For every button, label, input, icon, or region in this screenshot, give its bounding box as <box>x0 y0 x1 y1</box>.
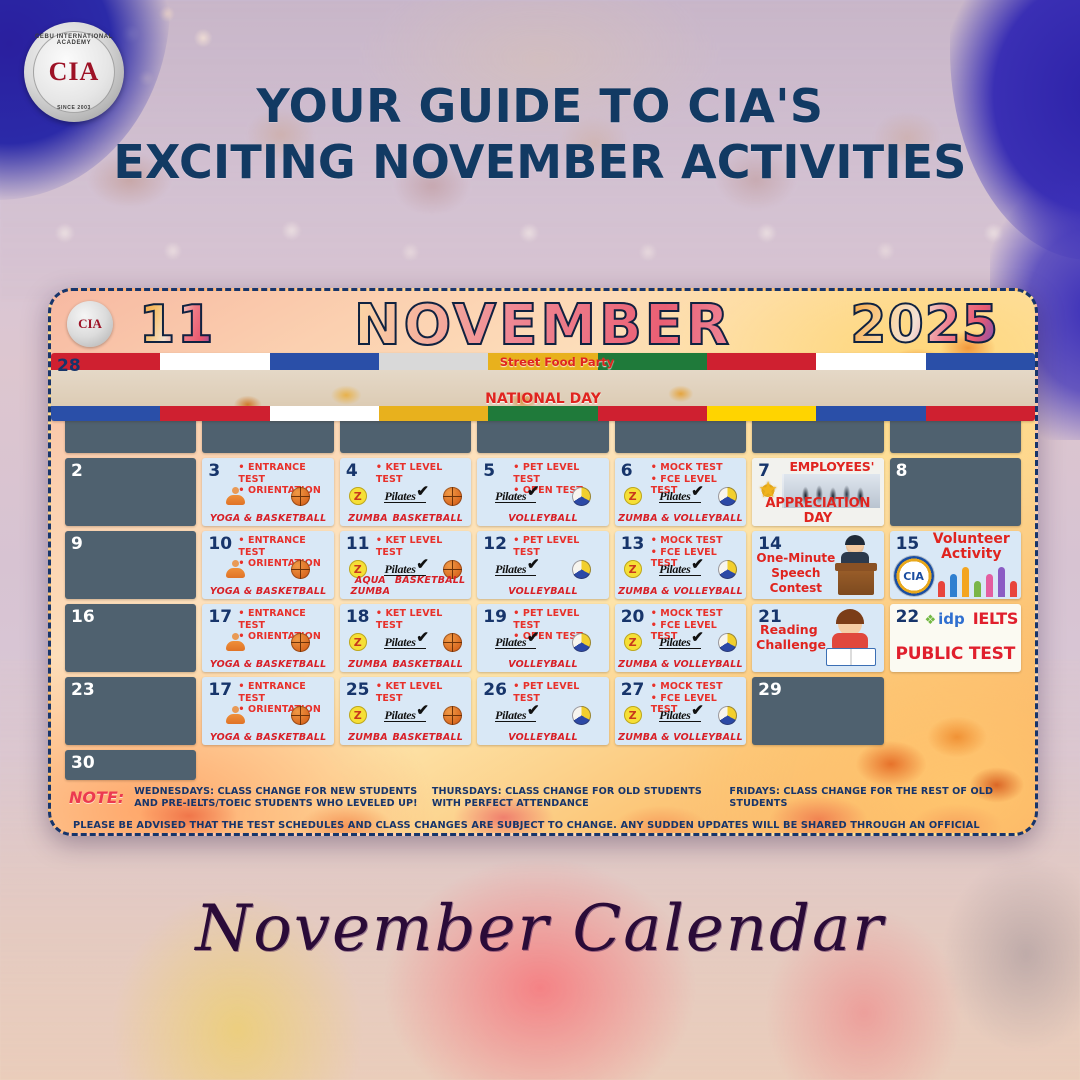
calendar-day-cell-empty[interactable]: 8 <box>890 458 1021 526</box>
day-test-item: ENTRANCE TEST <box>238 462 330 485</box>
activity-label: YOGA & BASKETBALL <box>202 586 333 597</box>
day-number: 22 <box>896 607 920 627</box>
calendar-header: CIA 11 NOVEMBER 2025 <box>51 291 1035 353</box>
activity-label: VOLLEYBALL <box>477 513 608 524</box>
activity-label: AQUA ZUMBA <box>346 575 395 597</box>
activity-label: VOLLEYBALL <box>477 586 608 597</box>
calendar-cell-blank <box>202 750 333 780</box>
day-test-item: PET LEVEL TEST <box>513 681 605 704</box>
activity-label: ZUMBA & VOLLEYBALL <box>615 659 746 670</box>
day-test-item: ENTRANCE TEST <box>238 681 330 704</box>
day-number: 9 <box>71 534 83 554</box>
calendar-day-cell-national-day[interactable]: 28Street Food PartyNATIONAL DAY <box>51 353 1035 421</box>
day-test-list: KET LEVEL TEST <box>376 462 468 485</box>
calendar-day-cell-activity[interactable]: 13MOCK TESTFCE LEVEL TESTPilatesZUMBA & … <box>615 531 746 599</box>
activity-icon-row: Pilates <box>340 484 471 508</box>
day-number: 26 <box>483 680 507 700</box>
pilates-icon: Pilates <box>659 490 700 503</box>
day-number: 10 <box>208 534 232 554</box>
day-test-list: PET LEVEL TEST <box>513 681 605 704</box>
note-column-thursdays: THURSDAYS: CLASS CHANGE FOR OLD STUDENTS… <box>432 786 720 810</box>
zumba-icon <box>624 560 642 578</box>
volleyball-icon <box>718 487 737 506</box>
calendar-day-cell-empty[interactable]: 23 <box>65 677 196 745</box>
day-test-list: KET LEVEL TEST <box>376 681 468 704</box>
calendar-day-cell-activity[interactable]: 6MOCK TESTFCE LEVEL TESTPilatesZUMBA & V… <box>615 458 746 526</box>
day-number: 11 <box>346 534 370 554</box>
day-number: 23 <box>71 680 95 700</box>
idp-logo: idp <box>924 610 964 628</box>
activity-label: ZUMBA & VOLLEYBALL <box>615 586 746 597</box>
note-column-fridays: FRIDAYS: CLASS CHANGE FOR THE REST OF OL… <box>729 786 1017 810</box>
day-number: 18 <box>346 607 370 627</box>
activity-icon-row: Pilates <box>340 630 471 654</box>
day-number: 19 <box>483 607 507 627</box>
activity-icon-row: Pilates <box>477 484 608 508</box>
calendar-week-row: 2317ENTRANCE TESTORIENTATIONYOGA & BASKE… <box>65 677 1021 745</box>
day-test-item: ENTRANCE TEST <box>238 535 330 558</box>
calendar-day-cell-speech-contest[interactable]: 14One-Minute Speech Contest <box>752 531 883 599</box>
day-test-item: ENTRANCE TEST <box>238 608 330 631</box>
day-number: 12 <box>483 534 507 554</box>
speaker-podium-icon <box>836 537 878 595</box>
zumba-icon <box>349 633 367 651</box>
activity-label: BASKETBALL <box>395 575 465 597</box>
calendar-day-cell-empty[interactable]: 16 <box>65 604 196 672</box>
volleyball-icon <box>572 487 591 506</box>
calendar-day-cell-volunteer-activity[interactable]: 15Volunteer ActivityCIA <box>890 531 1021 599</box>
volunteer-seal-text: CIA <box>894 556 934 596</box>
activity-icon-row: Pilates <box>615 630 746 654</box>
day-test-item: MOCK TEST <box>651 681 743 693</box>
day-test-item: PET LEVEL TEST <box>513 608 605 631</box>
pilates-icon: Pilates <box>495 563 536 576</box>
pilates-icon: Pilates <box>495 709 536 722</box>
activity-label-row: ZUMBABASKETBALL <box>340 732 471 743</box>
national-day-title: NATIONAL DAY <box>51 391 1035 407</box>
day-test-item: KET LEVEL TEST <box>376 462 468 485</box>
zumba-icon <box>624 706 642 724</box>
day-number: 4 <box>346 461 358 481</box>
page-title-line1: YOUR GUIDE TO CIA'S <box>0 78 1080 134</box>
activity-icon-row <box>202 484 333 508</box>
activity-label: YOGA & BASKETBALL <box>202 513 333 524</box>
volleyball-icon <box>572 633 591 652</box>
logo-initials: CIA <box>24 22 124 122</box>
day-test-item: KET LEVEL TEST <box>376 608 468 631</box>
day-number: 29 <box>758 680 782 700</box>
activity-icon-row: Pilates <box>477 703 608 727</box>
volleyball-icon <box>572 706 591 725</box>
day-test-item: PET LEVEL TEST <box>513 462 605 485</box>
calendar-card: CIA 11 NOVEMBER 2025 Sun Mon Tue Wed Thu… <box>48 288 1038 836</box>
cia-logo-badge: CEBU INTERNATIONAL ACADEMY CIA SINCE 200… <box>24 22 124 122</box>
day-number: 17 <box>208 607 232 627</box>
calendar-day-cell-empty[interactable]: 2 <box>65 458 196 526</box>
zumba-icon <box>624 487 642 505</box>
ielts-logo: IELTS <box>973 609 1018 628</box>
street-food-party-title: Street Food Party <box>81 355 1033 369</box>
note-label: NOTE: <box>69 786 124 807</box>
calendar-day-cell-activity[interactable]: 11KET LEVEL TESTPilatesAQUA ZUMBABASKETB… <box>340 531 471 599</box>
calendar-day-cell-activity[interactable]: 10ENTRANCE TESTORIENTATIONYOGA & BASKETB… <box>202 531 333 599</box>
note-column-wednesdays: WEDNESDAYS: CLASS CHANGE FOR NEW STUDENT… <box>134 786 422 810</box>
day-number: 6 <box>621 461 633 481</box>
calendar-day-cell-activity[interactable]: 12PET LEVEL TESTPilatesVOLLEYBALL <box>477 531 608 599</box>
ielts-logo-row: idpIELTS <box>926 609 1017 628</box>
note-top-row: NOTE: WEDNESDAYS: CLASS CHANGE FOR NEW S… <box>69 786 1017 810</box>
volleyball-icon <box>718 560 737 579</box>
calendar-day-cell-activity[interactable]: 19PET LEVEL TESTOPEN TESTPilatesVOLLEYBA… <box>477 604 608 672</box>
calendar-day-cell-activity[interactable]: 20MOCK TESTFCE LEVEL TESTPilatesZUMBA & … <box>615 604 746 672</box>
activity-icon-row: Pilates <box>477 557 608 581</box>
calendar-cell-blank <box>615 750 746 780</box>
day-test-item: KET LEVEL TEST <box>376 535 468 558</box>
day-number: 2 <box>71 461 83 481</box>
calendar-day-cell-activity[interactable]: 3ENTRANCE TESTORIENTATIONYOGA & BASKETBA… <box>202 458 333 526</box>
activity-icon-row <box>202 630 333 654</box>
activity-icon-row <box>202 703 333 727</box>
basketball-icon <box>291 560 310 579</box>
activity-label: ZUMBA & VOLLEYBALL <box>615 513 746 524</box>
day-test-list: KET LEVEL TEST <box>376 535 468 558</box>
activity-label: YOGA & BASKETBALL <box>202 659 333 670</box>
calendar-week-row: 30 <box>65 750 1021 780</box>
calendar-day-cell-activity[interactable]: 18KET LEVEL TESTPilatesZUMBABASKETBALL <box>340 604 471 672</box>
calendar-day-cell-activity[interactable]: 4KET LEVEL TESTPilatesZUMBABASKETBALL <box>340 458 471 526</box>
activity-label: ZUMBA <box>348 659 388 670</box>
activity-label: VOLLEYBALL <box>477 732 608 743</box>
zumba-icon <box>624 633 642 651</box>
zumba-icon <box>349 706 367 724</box>
calendar-day-cell-activity[interactable]: 25KET LEVEL TESTPilatesZUMBABASKETBALL <box>340 677 471 745</box>
day-number: 3 <box>208 461 220 481</box>
page-title: YOUR GUIDE TO CIA'S EXCITING NOVEMBER AC… <box>0 78 1080 190</box>
activity-icon-row: Pilates <box>615 703 746 727</box>
pilates-icon: Pilates <box>495 490 536 503</box>
note-section: NOTE: WEDNESDAYS: CLASS CHANGE FOR NEW S… <box>65 780 1021 836</box>
pilates-icon: Pilates <box>659 636 700 649</box>
calendar-day-cell-ielts-public-test[interactable]: 22idpIELTSPUBLIC TEST <box>890 604 1021 672</box>
pilates-icon: Pilates <box>659 563 700 576</box>
day-test-item: PET LEVEL TEST <box>513 535 605 558</box>
calendar-cell-blank <box>752 750 883 780</box>
calendar-day-cell-reading-challenge[interactable]: 21Reading Challenge <box>752 604 883 672</box>
activity-label-row: ZUMBABASKETBALL <box>340 659 471 670</box>
cia-volunteer-seal-icon: CIA <box>894 556 934 596</box>
calendar-week-row: 23ENTRANCE TESTORIENTATIONYOGA & BASKETB… <box>65 458 1021 526</box>
volleyball-icon <box>718 633 737 652</box>
basketball-icon <box>443 487 462 506</box>
calendar-cell-blank <box>340 750 471 780</box>
calendar-day-cell-activity[interactable]: 27MOCK TESTFCE LEVEL TESTPilatesZUMBA & … <box>615 677 746 745</box>
pilates-icon: Pilates <box>659 709 700 722</box>
calendar-day-cell-empty[interactable]: 30 <box>65 750 196 780</box>
calendar-weeks: 123ENTRANCE TESTORIENTATIONYOGA & BASKET… <box>65 385 1021 780</box>
speech-contest-title: One-Minute Speech Contest <box>756 551 835 596</box>
page-title-line2: EXCITING NOVEMBER ACTIVITIES <box>0 134 1080 190</box>
activity-label: BASKETBALL <box>392 659 462 670</box>
day-number: 16 <box>71 607 95 627</box>
calendar-day-cell-activity[interactable]: 5PET LEVEL TESTOPEN TESTPilatesVOLLEYBAL… <box>477 458 608 526</box>
activity-label: BASKETBALL <box>392 513 462 524</box>
day-test-list: KET LEVEL TEST <box>376 608 468 631</box>
day-number: 17 <box>208 680 232 700</box>
activity-label-row: AQUA ZUMBABASKETBALL <box>340 575 471 597</box>
day-number: 13 <box>621 534 645 554</box>
day-number: 20 <box>621 607 645 627</box>
activity-icon-row: Pilates <box>615 557 746 581</box>
yoga-icon <box>226 560 244 579</box>
activity-icon-row: Pilates <box>477 630 608 654</box>
pilates-icon: Pilates <box>384 636 425 649</box>
activity-label: BASKETBALL <box>392 732 462 743</box>
activity-label: ZUMBA & VOLLEYBALL <box>615 732 746 743</box>
calendar-day-cell-activity[interactable]: 26PET LEVEL TESTPilatesVOLLEYBALL <box>477 677 608 745</box>
activity-label: ZUMBA <box>348 513 388 524</box>
volleyball-icon <box>572 560 591 579</box>
day-test-item: KET LEVEL TEST <box>376 681 468 704</box>
pilates-icon: Pilates <box>495 636 536 649</box>
calendar-week-row: 910ENTRANCE TESTORIENTATIONYOGA & BASKET… <box>65 531 1021 599</box>
yoga-icon <box>226 706 244 725</box>
day-number: 15 <box>896 534 920 554</box>
calendar-cell-blank <box>890 750 1021 780</box>
calendar-cell-blank <box>477 750 608 780</box>
calendar-day-cell-empty[interactable]: 9 <box>65 531 196 599</box>
yoga-icon <box>226 487 244 506</box>
volleyball-icon <box>718 706 737 725</box>
day-test-list: PET LEVEL TEST <box>513 535 605 558</box>
basketball-icon <box>291 633 310 652</box>
volunteer-activity-title: Volunteer Activity <box>924 532 1019 562</box>
zumba-icon <box>349 487 367 505</box>
activity-icon-row: Pilates <box>340 703 471 727</box>
ielts-public-test-label: PUBLIC TEST <box>890 644 1021 664</box>
activity-label: YOGA & BASKETBALL <box>202 732 333 743</box>
calendar-week-row: 1617ENTRANCE TESTORIENTATIONYOGA & BASKE… <box>65 604 1021 672</box>
calendar-day-cell-employees-appreciation[interactable]: 7EMPLOYEES'APPRECIATION DAY <box>752 458 883 526</box>
pilates-icon: Pilates <box>384 563 425 576</box>
yoga-icon <box>226 633 244 652</box>
flags-bottom-icon <box>51 406 1035 421</box>
pilates-icon: Pilates <box>384 490 425 503</box>
basketball-icon <box>443 706 462 725</box>
reading-challenge-title: Reading Challenge <box>756 622 821 652</box>
day-test-item: MOCK TEST <box>651 608 743 620</box>
day-number: 5 <box>483 461 495 481</box>
calendar-grid: Sun Mon Tue Wed Thu Fri Sat 123ENTRANCE … <box>51 353 1035 780</box>
pilates-icon: Pilates <box>384 709 425 722</box>
day-test-item: MOCK TEST <box>651 535 743 547</box>
footer-script-text: November Calendar <box>0 892 1080 966</box>
activity-icon-row <box>202 557 333 581</box>
basketball-icon <box>443 633 462 652</box>
activity-label-row: ZUMBABASKETBALL <box>340 513 471 524</box>
child-reading-icon <box>824 612 878 666</box>
day-number: 28 <box>57 356 81 376</box>
activity-label: ZUMBA <box>348 732 388 743</box>
day-number: 25 <box>346 680 370 700</box>
activity-icon-row: Pilates <box>615 484 746 508</box>
employees-title-top: EMPLOYEES' <box>782 459 881 474</box>
raised-hands-icon <box>938 563 1017 597</box>
day-test-item: MOCK TEST <box>651 462 743 474</box>
calendar-day-cell-empty[interactable]: 29 <box>752 677 883 745</box>
note-disclaimer: PLEASE BE ADVISED THAT THE TEST SCHEDULE… <box>69 819 1017 836</box>
background-skull-masks <box>0 185 1080 305</box>
employees-title-bottom: APPRECIATION DAY <box>752 496 883 526</box>
day-number: 8 <box>896 461 908 481</box>
activity-label: VOLLEYBALL <box>477 659 608 670</box>
basketball-icon <box>291 706 310 725</box>
basketball-icon <box>291 487 310 506</box>
day-number: 27 <box>621 680 645 700</box>
calendar-day-cell-activity[interactable]: 17ENTRANCE TESTORIENTATIONYOGA & BASKETB… <box>202 677 333 745</box>
day-number: 30 <box>71 753 95 773</box>
year-number: 2025 <box>850 295 999 355</box>
calendar-day-cell-activity[interactable]: 17ENTRANCE TESTORIENTATIONYOGA & BASKETB… <box>202 604 333 672</box>
